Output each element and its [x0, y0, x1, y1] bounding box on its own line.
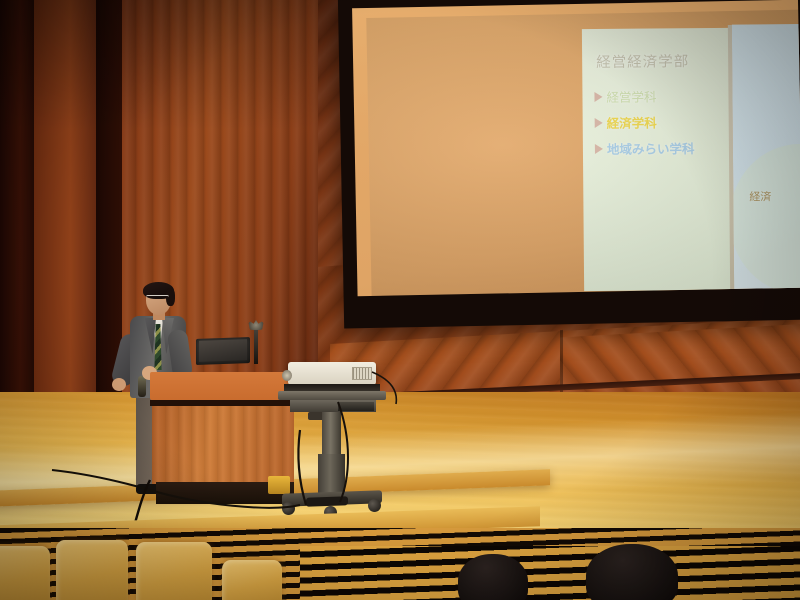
slide-circle-graphic [732, 143, 800, 290]
auditorium-seat [0, 546, 50, 600]
slide-bullet-2: 経済学科 [595, 112, 657, 132]
cart-shelf-panel [338, 402, 374, 411]
secondary-slide: 経済 [732, 24, 800, 291]
glasses-icon [146, 295, 169, 301]
handheld-microphone [138, 376, 146, 397]
projection-screen-frame: 経営経済学部 経営学科 経済学科 地域みらい学科 経済 [338, 0, 800, 328]
yellow-equipment-box [268, 476, 290, 494]
auditorium-seat [222, 560, 282, 600]
auditorium-seat [136, 542, 212, 600]
slide-bullet-1-label: 経営学科 [606, 86, 656, 105]
triangle-bullet-icon [595, 117, 603, 127]
presentation-slide: 経営経済学部 経営学科 経済学科 地域みらい学科 [582, 28, 731, 291]
audience-member-head [586, 544, 678, 600]
slide-bullet-2-label: 経済学科 [607, 112, 657, 131]
presenter-left-hand [112, 378, 126, 391]
microphone-stand [254, 326, 258, 364]
presentation-photo-scene: 経営経済学部 経営学科 経済学科 地域みらい学科 経済 [0, 0, 800, 600]
projector-vent [352, 367, 372, 380]
cart-top-plate [278, 391, 386, 400]
triangle-bullet-icon [594, 91, 602, 101]
cart-wheel [368, 499, 381, 512]
projector-cart [276, 358, 388, 520]
auditorium-seat [56, 540, 128, 600]
projector-lens-icon [282, 370, 292, 381]
slide-title: 経営経済学部 [596, 50, 689, 72]
slide-bullet-1: 経営学科 [594, 86, 656, 106]
triangle-bullet-icon [595, 143, 603, 153]
podium-front-panel [152, 406, 294, 484]
slide-bullet-3: 地域みらい学科 [595, 138, 695, 158]
audience-member-head [458, 554, 528, 600]
cart-base-plate [306, 496, 348, 506]
cart-wheel [282, 502, 295, 515]
stage-front-vent-slats-right [300, 546, 800, 600]
slide-bullet-3-label: 地域みらい学科 [607, 138, 695, 158]
projection-screen-surface: 経営経済学部 経営学科 経済学科 地域みらい学科 経済 [352, 0, 800, 296]
cart-lower-post [318, 454, 345, 496]
laptop-screen [199, 339, 247, 362]
secondary-slide-text: 経済 [749, 188, 771, 204]
